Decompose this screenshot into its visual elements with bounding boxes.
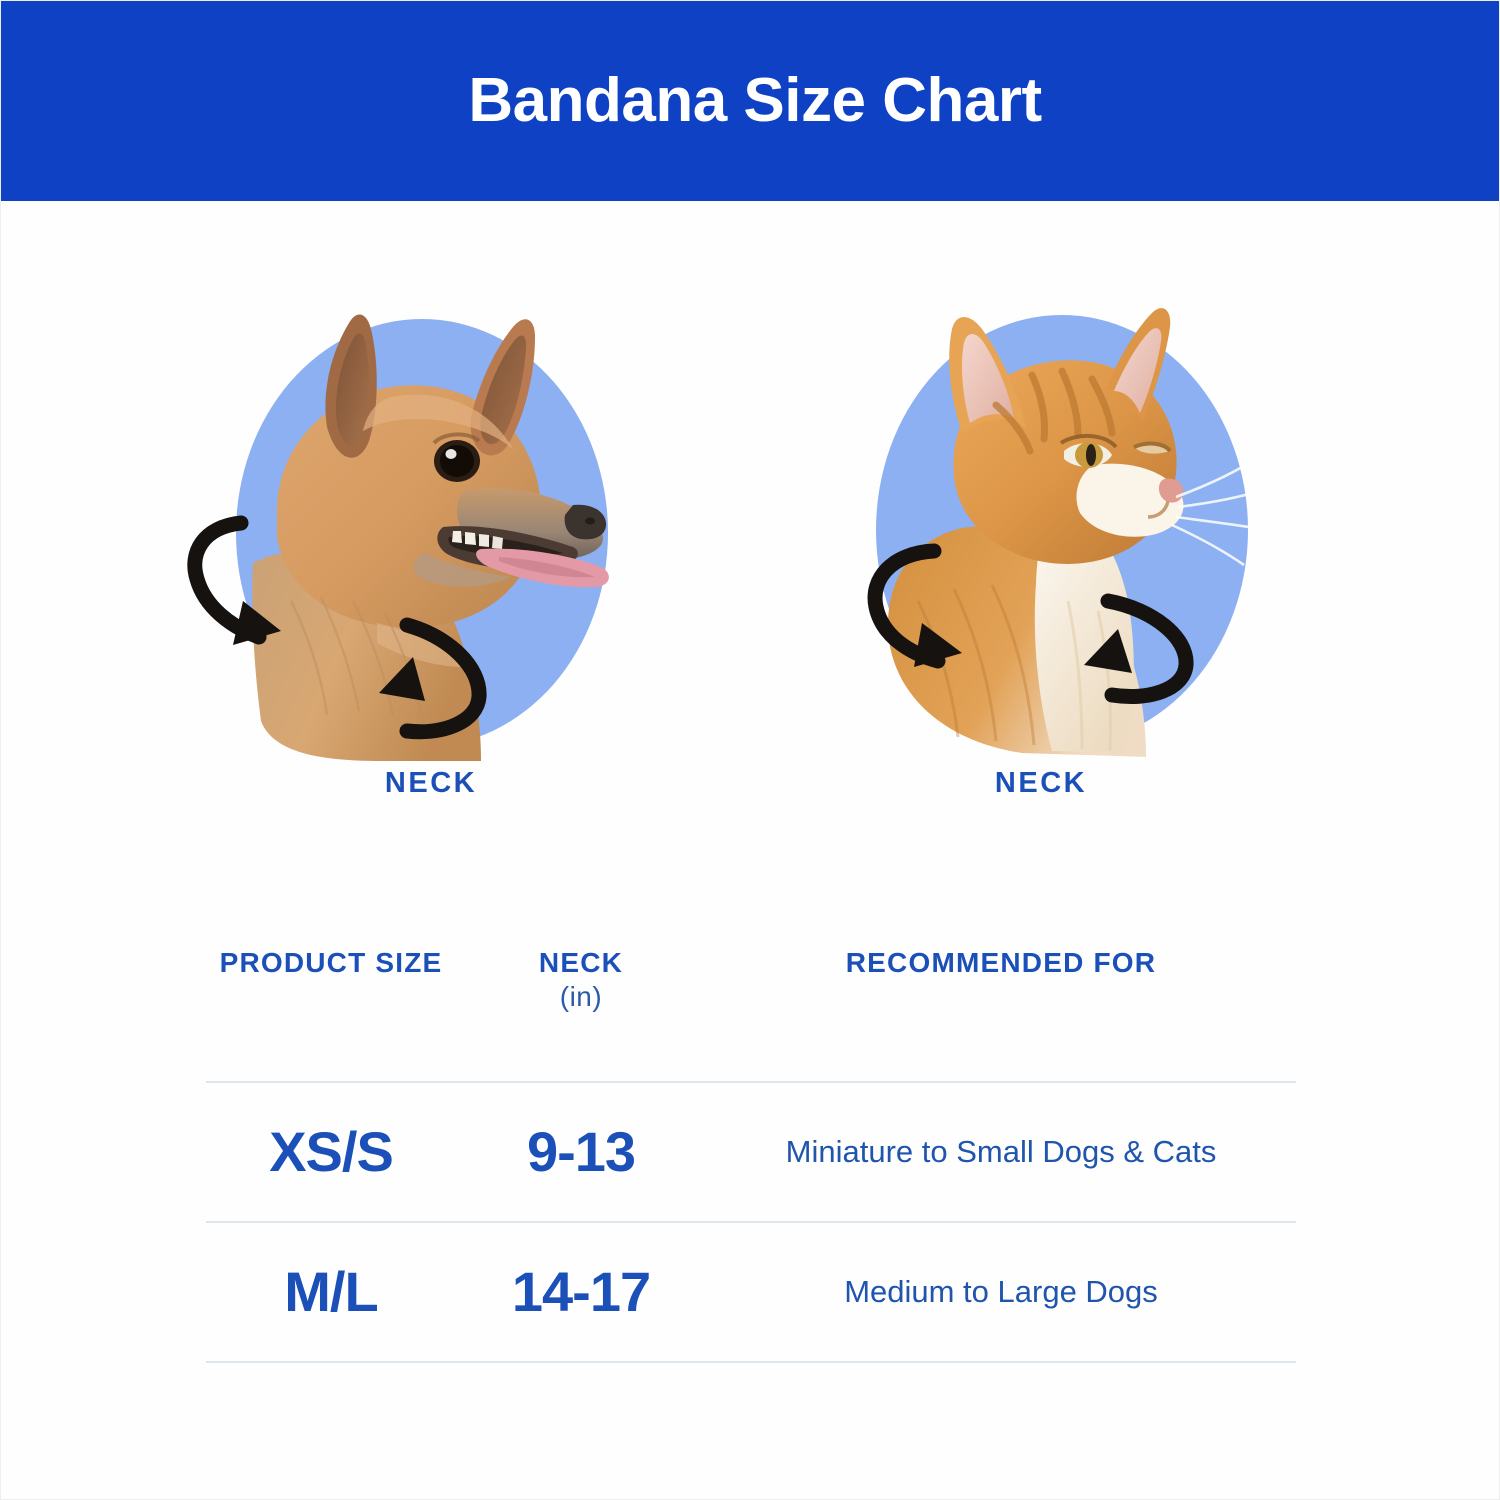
table-divider-bottom (206, 1361, 1296, 1363)
size-table: PRODUCT SIZE NECK (in) RECOMMENDED FOR X… (206, 936, 1296, 1363)
column-header-neck-label: NECK (539, 947, 623, 978)
size-chart-graphic: Bandana Size Chart (0, 0, 1500, 1500)
dog-neck-label: NECK (211, 767, 651, 800)
row-0-recommended-for: Miniature to Small Dogs & Cats (706, 1132, 1296, 1172)
row-1-neck: 14-17 (456, 1264, 706, 1320)
illustration-row: NECK (1, 301, 1500, 841)
dog-artwork (181, 301, 621, 761)
row-0-neck: 9-13 (456, 1124, 706, 1180)
header-banner: Bandana Size Chart (1, 1, 1500, 201)
cat-whiskers (1172, 457, 1266, 565)
table-header-row: PRODUCT SIZE NECK (in) RECOMMENDED FOR (206, 936, 1296, 1081)
dog-illustration-block: NECK (181, 301, 621, 841)
cat-neck-label: NECK (821, 767, 1261, 800)
page-title: Bandana Size Chart (460, 70, 1041, 132)
cat-illustration-block: NECK (846, 301, 1286, 841)
cat-illustration (846, 301, 1286, 761)
column-header-neck: NECK (in) (456, 936, 706, 1014)
dog-illustration (181, 301, 621, 761)
row-1-product-size: M/L (206, 1264, 456, 1320)
row-0-product-size: XS/S (206, 1124, 456, 1180)
table-row: XS/S 9-13 Miniature to Small Dogs & Cats (206, 1083, 1296, 1221)
column-header-recommended-for: RECOMMENDED FOR (706, 936, 1296, 980)
cat-artwork (846, 301, 1286, 761)
column-header-product-size: PRODUCT SIZE (206, 936, 456, 980)
table-row: M/L 14-17 Medium to Large Dogs (206, 1223, 1296, 1361)
row-1-recommended-for: Medium to Large Dogs (706, 1272, 1296, 1312)
column-header-neck-unit: (in) (456, 980, 706, 1014)
